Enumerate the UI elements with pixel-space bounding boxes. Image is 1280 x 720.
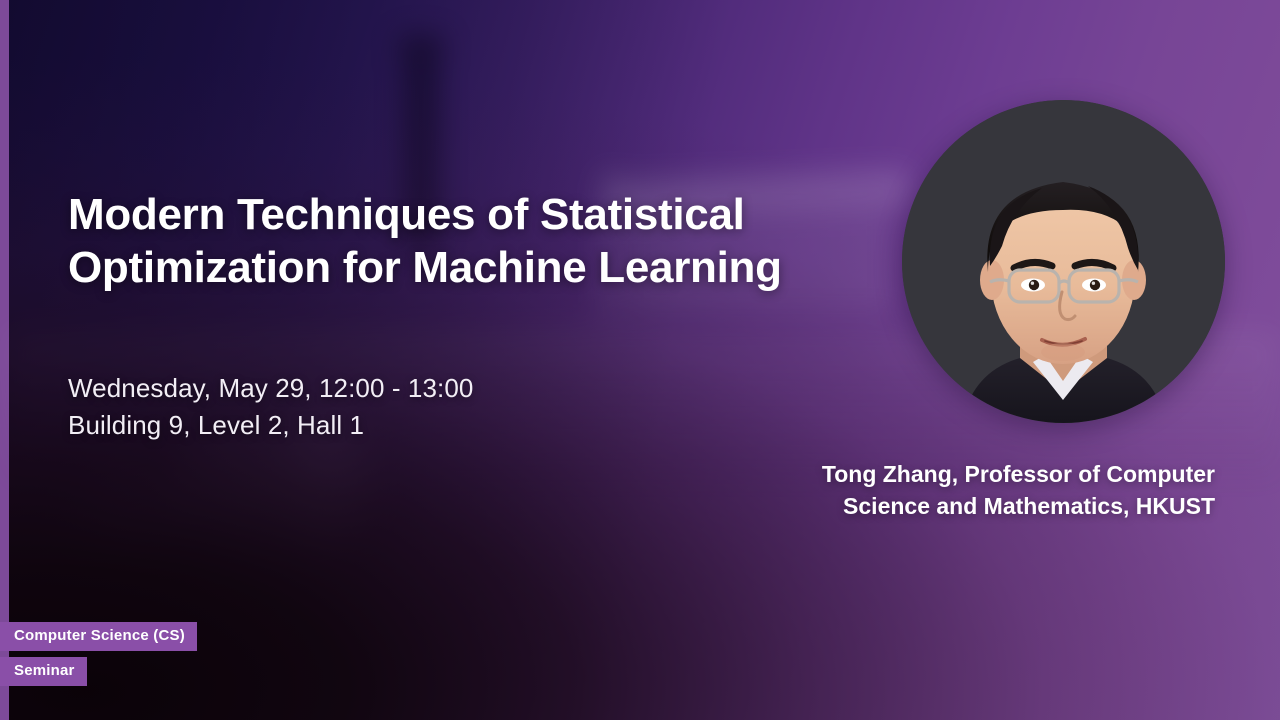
page-title: Modern Techniques of Statistical Optimiz…: [68, 188, 788, 294]
portrait-illustration: [902, 100, 1225, 423]
seminar-announcement-slide: Modern Techniques of Statistical Optimiz…: [0, 0, 1280, 720]
speaker-portrait: [902, 100, 1225, 423]
event-date-time: Wednesday, May 29, 12:00 - 13:00: [68, 370, 788, 407]
event-details: Wednesday, May 29, 12:00 - 13:00 Buildin…: [68, 370, 788, 444]
badge-event-type[interactable]: Seminar: [0, 657, 87, 686]
event-location: Building 9, Level 2, Hall 1: [68, 407, 788, 444]
badge-department[interactable]: Computer Science (CS): [0, 622, 197, 651]
speaker-name-title: Tong Zhang, Professor of Computer Scienc…: [795, 458, 1215, 522]
badge-group: Computer Science (CS) Seminar: [0, 622, 197, 686]
